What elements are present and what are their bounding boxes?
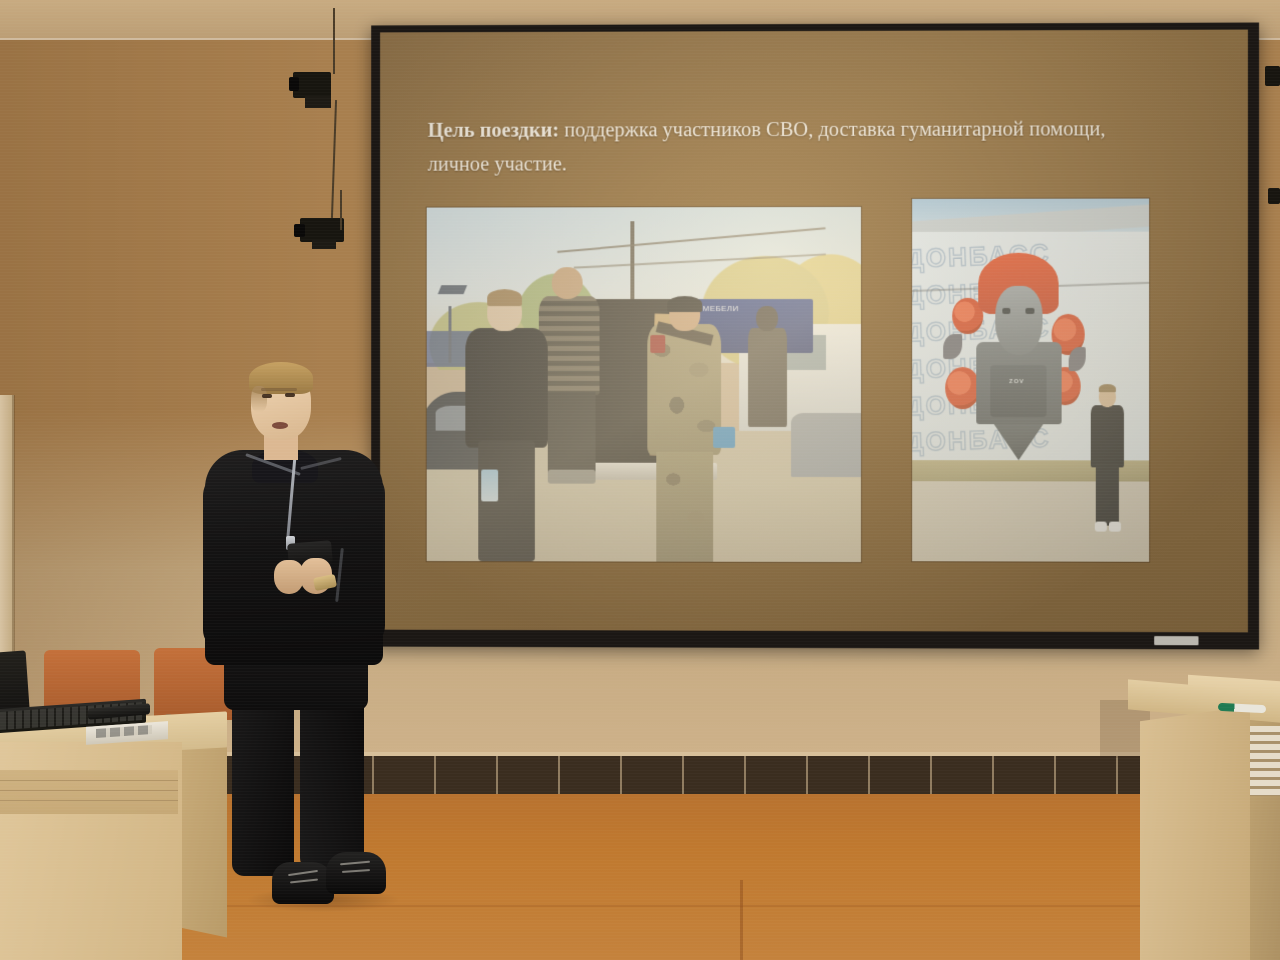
photo1-young-man-legs xyxy=(479,441,535,561)
photo1-young-man-hair xyxy=(487,289,522,307)
mural-face xyxy=(995,286,1042,355)
podium-shelf xyxy=(1246,726,1280,796)
baseboard-tile-seam xyxy=(1054,756,1056,798)
wall-camera-upper-bracket xyxy=(305,96,331,108)
presenter-mouth xyxy=(272,422,288,429)
lectern-left-panel xyxy=(0,770,178,814)
photo1-person-striped-head xyxy=(552,268,582,300)
photo1-person-background-body xyxy=(748,328,787,427)
photo1-soldier-cap xyxy=(667,296,702,312)
baseboard-tile-seam xyxy=(620,756,622,798)
baseboard-tile-seam xyxy=(434,756,436,798)
presenter-eye-left xyxy=(262,394,272,398)
wall-bracket-right-upper-icon xyxy=(1265,66,1280,86)
presenter-eye-right xyxy=(285,393,295,397)
wall-camera-upper-lens-icon xyxy=(289,77,299,91)
floor-seam xyxy=(740,880,743,960)
photo1-person-striped-legs xyxy=(548,391,596,476)
lectern-left-side xyxy=(175,736,227,937)
baseboard-tile-seam xyxy=(682,756,684,798)
photo1-person-background-head xyxy=(756,306,778,331)
presenter-brow xyxy=(261,388,297,391)
presenter-leg-right xyxy=(300,688,364,870)
slide-photo-donbass-mural: ДОНБАССДОНБАССДОНБАССДОНБАССДОНБАССДОНБА… xyxy=(912,199,1149,562)
projector-screen-surface: Цель поездки: поддержка участников СВО, … xyxy=(380,30,1248,633)
baseboard-tile-seam xyxy=(372,756,374,798)
baseboard-tile-seam xyxy=(806,756,808,798)
baseboard-tile-seam xyxy=(558,756,560,798)
photo1-person-striped-shoes xyxy=(548,469,596,483)
mural-eye-left xyxy=(1002,308,1010,314)
screen-brand-label xyxy=(1154,636,1198,645)
presenter-shoe-left xyxy=(272,862,334,904)
photo2-man-shoe-right xyxy=(1109,522,1121,531)
wall-camera-lower-lens-icon xyxy=(294,224,305,237)
photo2-man-hair xyxy=(1099,384,1116,393)
slide-title-line2: личное участие. xyxy=(428,154,567,176)
door-jamb-edge xyxy=(12,395,15,695)
photo2-mural-figure: ZOV xyxy=(959,253,1077,456)
wall-camera-lower-icon xyxy=(300,218,344,242)
photo1-street-lamp-head xyxy=(438,285,467,294)
baseboard-tile-seam xyxy=(496,756,498,798)
photo1-person-striped-body xyxy=(539,296,600,395)
baseboard-tile-seam xyxy=(868,756,870,798)
wall-bracket-right-lower-icon xyxy=(1268,188,1280,204)
baseboard-tile-seam xyxy=(744,756,746,798)
projector-screen: Цель поездки: поддержка участников СВО, … xyxy=(371,23,1259,650)
baseboard-tile-seam xyxy=(992,756,994,798)
photo1-street-lamp-pole xyxy=(448,307,451,364)
presenter-leg-left xyxy=(232,690,294,876)
slide-photo-aid-loading: ЕРМАРКЕТ МЕБЕЛИ Арт — Тем xyxy=(427,207,861,562)
leaf-left xyxy=(943,334,962,358)
mural-vest xyxy=(990,365,1047,418)
camera-cable-lower xyxy=(340,190,342,230)
slide-title-rest: поддержка участников СВО, доставка гуман… xyxy=(559,118,1105,141)
baseboard-tile-seam xyxy=(1116,756,1118,798)
photo1-soldier-legs xyxy=(656,452,713,562)
presenter-shoe-right xyxy=(326,852,386,894)
mural-eye-right xyxy=(1026,308,1034,314)
photo2-man-legs xyxy=(1096,464,1120,526)
podium-front xyxy=(1140,706,1250,960)
photo1-young-man-body xyxy=(466,328,548,448)
photo1-right-car xyxy=(791,413,861,477)
slide-title: Цель поездки: поддержка участников СВО, … xyxy=(428,112,1218,182)
photo1-blue-box xyxy=(713,427,735,448)
photo1-soldier-patch xyxy=(650,335,665,353)
lecture-room-scene: Цель поездки: поддержка участников СВО, … xyxy=(0,0,1280,960)
mural-vest-text: ZOV xyxy=(1009,379,1024,385)
baseboard-tile-seam xyxy=(930,756,932,798)
wall-camera-lower-bracket xyxy=(312,240,336,249)
photo1-water-bottle xyxy=(481,469,498,501)
photo2-man-body xyxy=(1091,406,1124,468)
photo2-man-shoe-left xyxy=(1095,522,1107,531)
slide-title-bold: Цель поездки: xyxy=(428,120,559,142)
camera-cable-upper xyxy=(333,8,335,74)
